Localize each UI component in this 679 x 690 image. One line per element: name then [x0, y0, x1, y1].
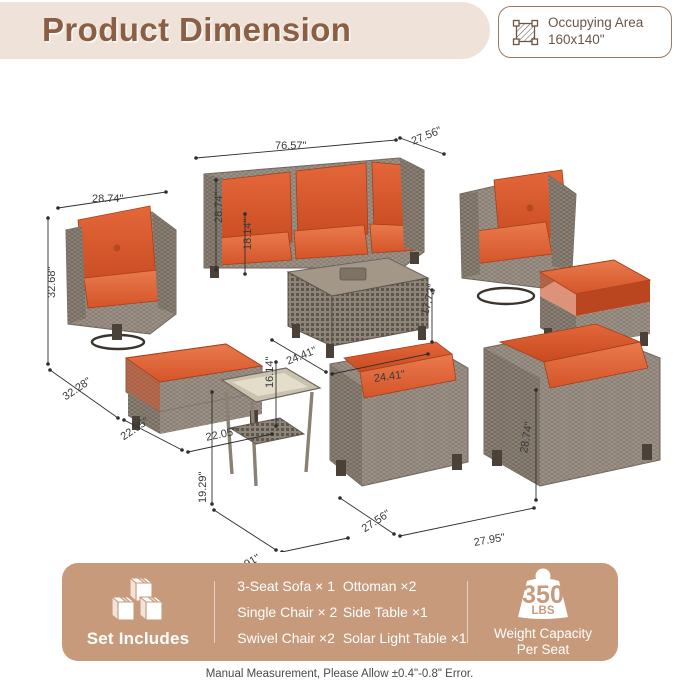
furniture-illustration: 76.57"27.56"28.74"18.14"28.74"32.68"32.2… [0, 62, 679, 552]
list-item: Ottoman ×2 [343, 578, 467, 594]
single-chair-center [330, 342, 468, 486]
list-item: Single Chair × 2 [237, 604, 343, 620]
dimension-side-table-height: 19.29" [197, 472, 209, 503]
single-chair-right [484, 324, 660, 486]
stacked-boxes-icon [100, 575, 176, 627]
set-includes-panel: Set Includes 3-Seat Sofa × 1 Ottoman ×2 … [62, 563, 618, 661]
weight-capacity-block: 350 LBS Weight Capacity Per Seat [468, 563, 618, 661]
list-item: Swivel Chair ×2 [237, 630, 343, 646]
header: Product Dimension Occupying Area 160x140… [0, 0, 679, 62]
set-includes-label: Set Includes [87, 629, 190, 649]
occupying-area-label: Occupying Area [548, 15, 643, 32]
dimension-swivel-chair-width: 28.74" [92, 193, 123, 205]
disclaimer-text: Manual Measurement, Please Allow ±0.4"-0… [0, 668, 679, 680]
list-item: 3-Seat Sofa × 1 [237, 578, 343, 594]
dimension-sofa-height: 28.74" [213, 192, 225, 223]
weight-caption-line1: Weight Capacity [494, 626, 592, 642]
dimension-sofa-width: 76.57" [275, 140, 306, 152]
set-includes-header: Set Includes [62, 563, 214, 661]
coffee-table [288, 258, 428, 358]
weight-caption-line2: Per Seat [494, 642, 592, 658]
furniture-scene [0, 62, 679, 552]
dimension-sofa-seat-height: 18.14" [242, 219, 254, 250]
weight-plate-icon: 350 LBS [504, 567, 582, 623]
list-item: Side Table ×1 [343, 604, 467, 620]
hatched-square-icon [512, 19, 539, 46]
swivel-chair-left [66, 206, 176, 349]
weight-capacity-caption: Weight Capacity Per Seat [494, 626, 592, 658]
dimension-ottoman-height: 16.14" [264, 357, 276, 388]
page-title: Product Dimension [42, 11, 351, 49]
list-item: Solar Light Table ×1 [343, 630, 467, 646]
occupying-area-value: 160x140" [548, 32, 643, 49]
set-items-list: 3-Seat Sofa × 1 Ottoman ×2 Single Chair … [215, 563, 466, 661]
dimension-swivel-chair-height: 32.68" [46, 267, 58, 298]
weight-unit: LBS [532, 605, 555, 617]
occupying-area-badge: Occupying Area 160x140" [498, 6, 672, 58]
